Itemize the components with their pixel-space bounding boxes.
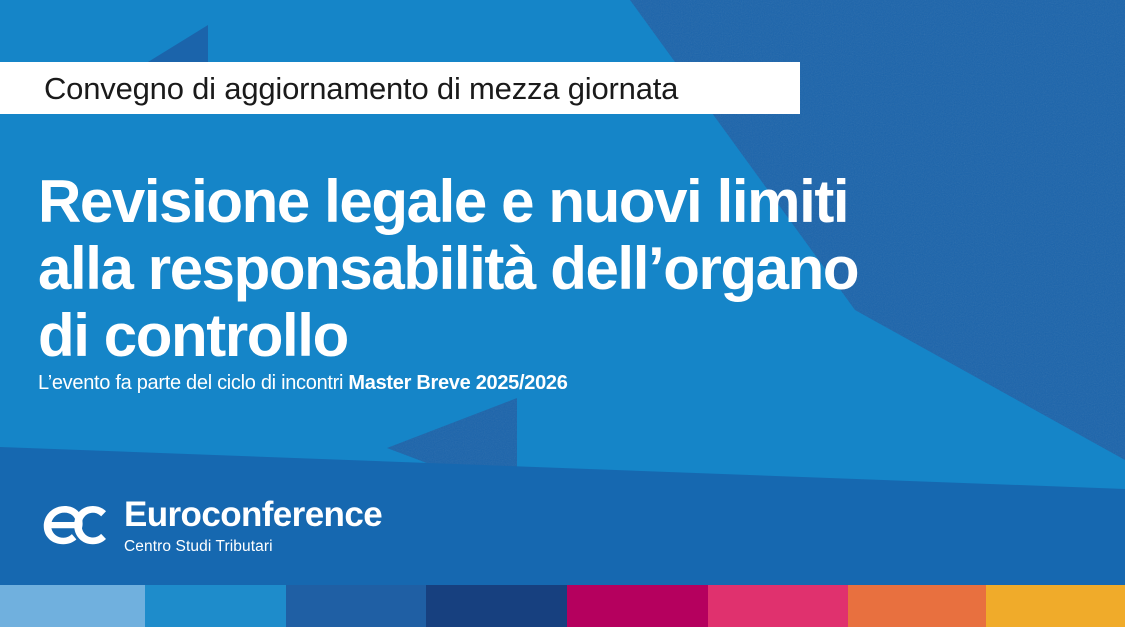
subtitle-emphasis: Master Breve 2025/2026 [348,372,567,394]
headline-line-2: alla responsabilità dell’organo [38,236,1088,303]
headline-line-1: Revisione legale e nuovi limiti [38,169,1088,236]
swatch-blue [145,585,286,627]
brand-wordmark: Euroconference Centro Studi Tributari [124,497,382,555]
shape-left-pointing-triangle [387,398,517,497]
brand-tagline: Centro Studi Tributari [124,539,382,555]
page-title: Revisione legale e nuovi limiti alla res… [38,169,1088,370]
swatch-orange [848,585,985,627]
brand-logo: Euroconference Centro Studi Tributari [40,497,382,555]
subtitle: L’evento fa parte del ciclo di incontri … [38,372,568,395]
swatch-amber [986,585,1125,627]
subtitle-prefix: L’evento fa parte del ciclo di incontri [38,372,348,394]
brand-color-bar [0,585,1125,627]
swatch-dark-navy [426,585,567,627]
eyebrow-label: Convegno di aggiornamento di mezza giorn… [0,73,678,104]
brand-name: Euroconference [124,497,382,532]
event-poster: Convegno di aggiornamento di mezza giorn… [0,0,1125,627]
swatch-pink [708,585,849,627]
shape-left-pointing-triangle-texture [387,398,517,497]
swatch-light-blue [0,585,145,627]
headline-line-3: di controllo [38,303,1088,370]
shape-top-left-triangle [148,25,208,62]
swatch-magenta [567,585,708,627]
swatch-medium-blue [286,585,427,627]
eyebrow-banner: Convegno di aggiornamento di mezza giorn… [0,62,800,114]
ec-monogram-icon [40,499,112,549]
